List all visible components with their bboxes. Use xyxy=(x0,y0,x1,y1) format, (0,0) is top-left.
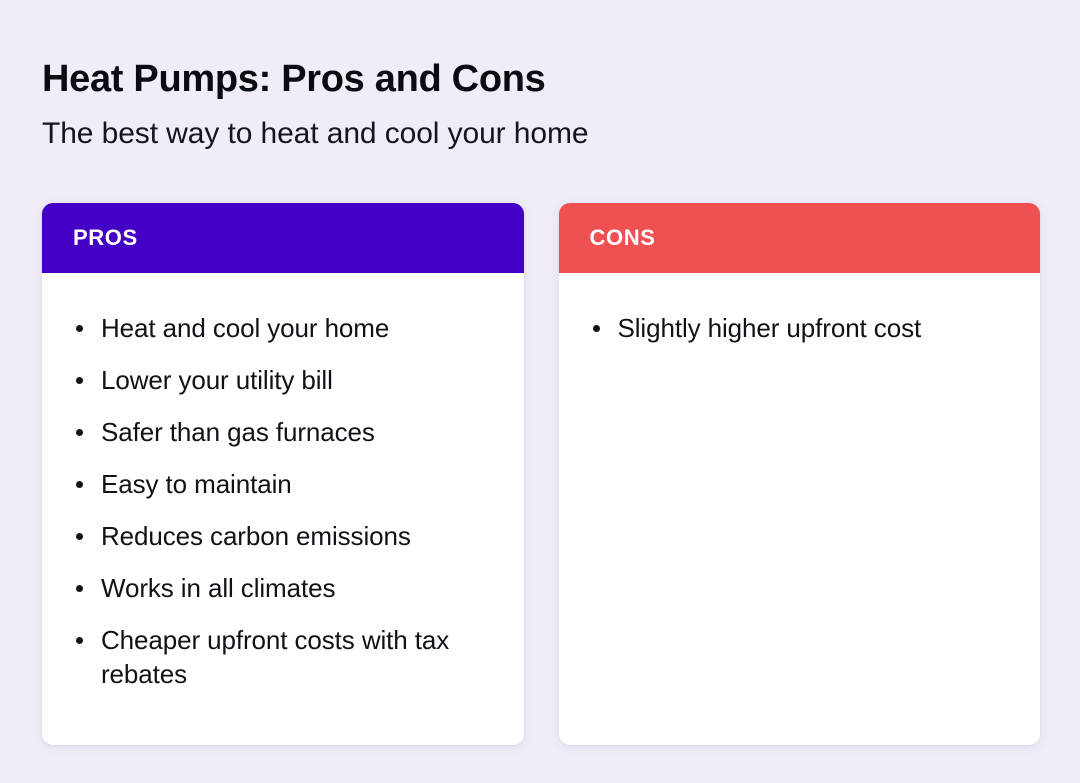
pros-card-body: Heat and cool your home Lower your utili… xyxy=(42,273,524,745)
list-item: Lower your utility bill xyxy=(72,363,494,397)
pros-list: Heat and cool your home Lower your utili… xyxy=(72,311,494,691)
pros-card-header: PROS xyxy=(42,203,524,273)
cards-row: PROS Heat and cool your home Lower your … xyxy=(42,203,1040,745)
list-item: Safer than gas furnaces xyxy=(72,415,494,449)
cons-card-header-label: CONS xyxy=(590,225,656,251)
cons-list: Slightly higher upfront cost xyxy=(589,311,1011,345)
cons-card-header: CONS xyxy=(559,203,1041,273)
page-title: Heat Pumps: Pros and Cons xyxy=(42,56,1042,102)
heading-block: Heat Pumps: Pros and Cons The best way t… xyxy=(42,56,1042,154)
pros-card-header-label: PROS xyxy=(73,225,138,251)
list-item: Works in all climates xyxy=(72,571,494,605)
page-subtitle: The best way to heat and cool your home xyxy=(42,114,1042,154)
list-item: Heat and cool your home xyxy=(72,311,494,345)
pros-card: PROS Heat and cool your home Lower your … xyxy=(42,203,524,745)
cons-card-body: Slightly higher upfront cost xyxy=(559,273,1041,745)
pros-and-cons-infographic: Heat Pumps: Pros and Cons The best way t… xyxy=(0,0,1080,783)
list-item: Slightly higher upfront cost xyxy=(589,311,1011,345)
cons-card: CONS Slightly higher upfront cost xyxy=(559,203,1041,745)
list-item: Easy to maintain xyxy=(72,467,494,501)
list-item: Cheaper upfront costs with tax rebates xyxy=(72,623,494,691)
list-item: Reduces carbon emissions xyxy=(72,519,494,553)
